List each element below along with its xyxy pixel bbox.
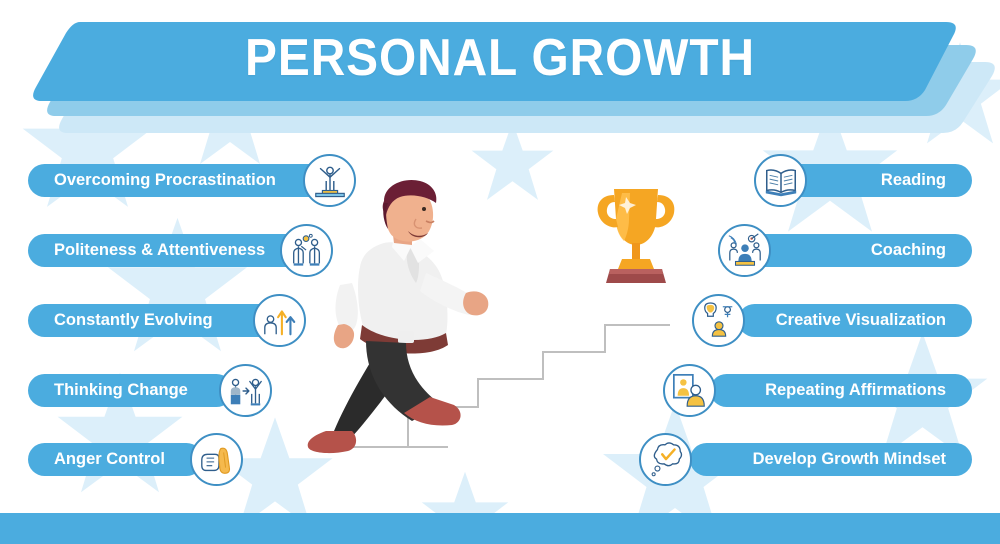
person-growth-arrows-icon [253, 294, 306, 347]
thought-cloud-check-icon [639, 433, 692, 486]
label-reading: Reading [881, 172, 946, 189]
two-people-talking-icon [280, 224, 333, 277]
pill-constantly-evolving[interactable]: Constantly Evolving [28, 304, 278, 337]
label-politeness-attentiveness: Politeness & Attentiveness [54, 242, 265, 259]
pill-anger-control[interactable]: Anger Control [28, 443, 203, 476]
label-constantly-evolving: Constantly Evolving [54, 312, 213, 329]
mirror-person-icon [663, 364, 716, 417]
idea-bulb-person-icon [692, 294, 745, 347]
label-coaching: Coaching [871, 242, 946, 259]
pill-thinking-change[interactable]: Thinking Change [28, 374, 233, 407]
pill-coaching[interactable]: Coaching [745, 234, 972, 267]
pill-reading[interactable]: Reading [780, 164, 972, 197]
person-podium-icon [303, 154, 356, 207]
pill-repeating-affirmations[interactable]: Repeating Affirmations [710, 374, 972, 407]
central-illustration [300, 175, 720, 470]
label-thinking-change: Thinking Change [54, 382, 188, 399]
label-creative-visualization: Creative Visualization [776, 312, 946, 329]
label-repeating-affirmations: Repeating Affirmations [765, 382, 946, 399]
hand-calm-icon [190, 433, 243, 486]
label-overcoming-procrastination: Overcoming Procrastination [54, 172, 276, 189]
back-shoe [308, 431, 356, 453]
coach-target-icon [718, 224, 771, 277]
header-banner: PERSONAL GROWTH [0, 0, 1000, 150]
pill-politeness-attentiveness[interactable]: Politeness & Attentiveness [28, 234, 306, 267]
open-book-icon [754, 154, 807, 207]
label-develop-growth-mindset: Develop Growth Mindset [753, 451, 946, 468]
front-fist [463, 291, 488, 315]
man-climbing-stairs-svg [300, 175, 720, 465]
pill-develop-growth-mindset[interactable]: Develop Growth Mindset [690, 443, 972, 476]
pill-overcoming-procrastination[interactable]: Overcoming Procrastination [28, 164, 333, 197]
eye [422, 207, 426, 211]
belt-buckle [398, 331, 414, 343]
page-title: PERSONAL GROWTH [40, 28, 960, 88]
back-hand [334, 324, 354, 348]
pill-creative-visualization[interactable]: Creative Visualization [738, 304, 972, 337]
infographic-canvas: PERSONAL GROWTH [0, 0, 1000, 544]
back-arm [336, 283, 358, 332]
label-anger-control: Anger Control [54, 451, 165, 468]
golden-trophy-icon [598, 189, 675, 283]
person-transform-icon [219, 364, 272, 417]
footer-bar [0, 513, 1000, 544]
